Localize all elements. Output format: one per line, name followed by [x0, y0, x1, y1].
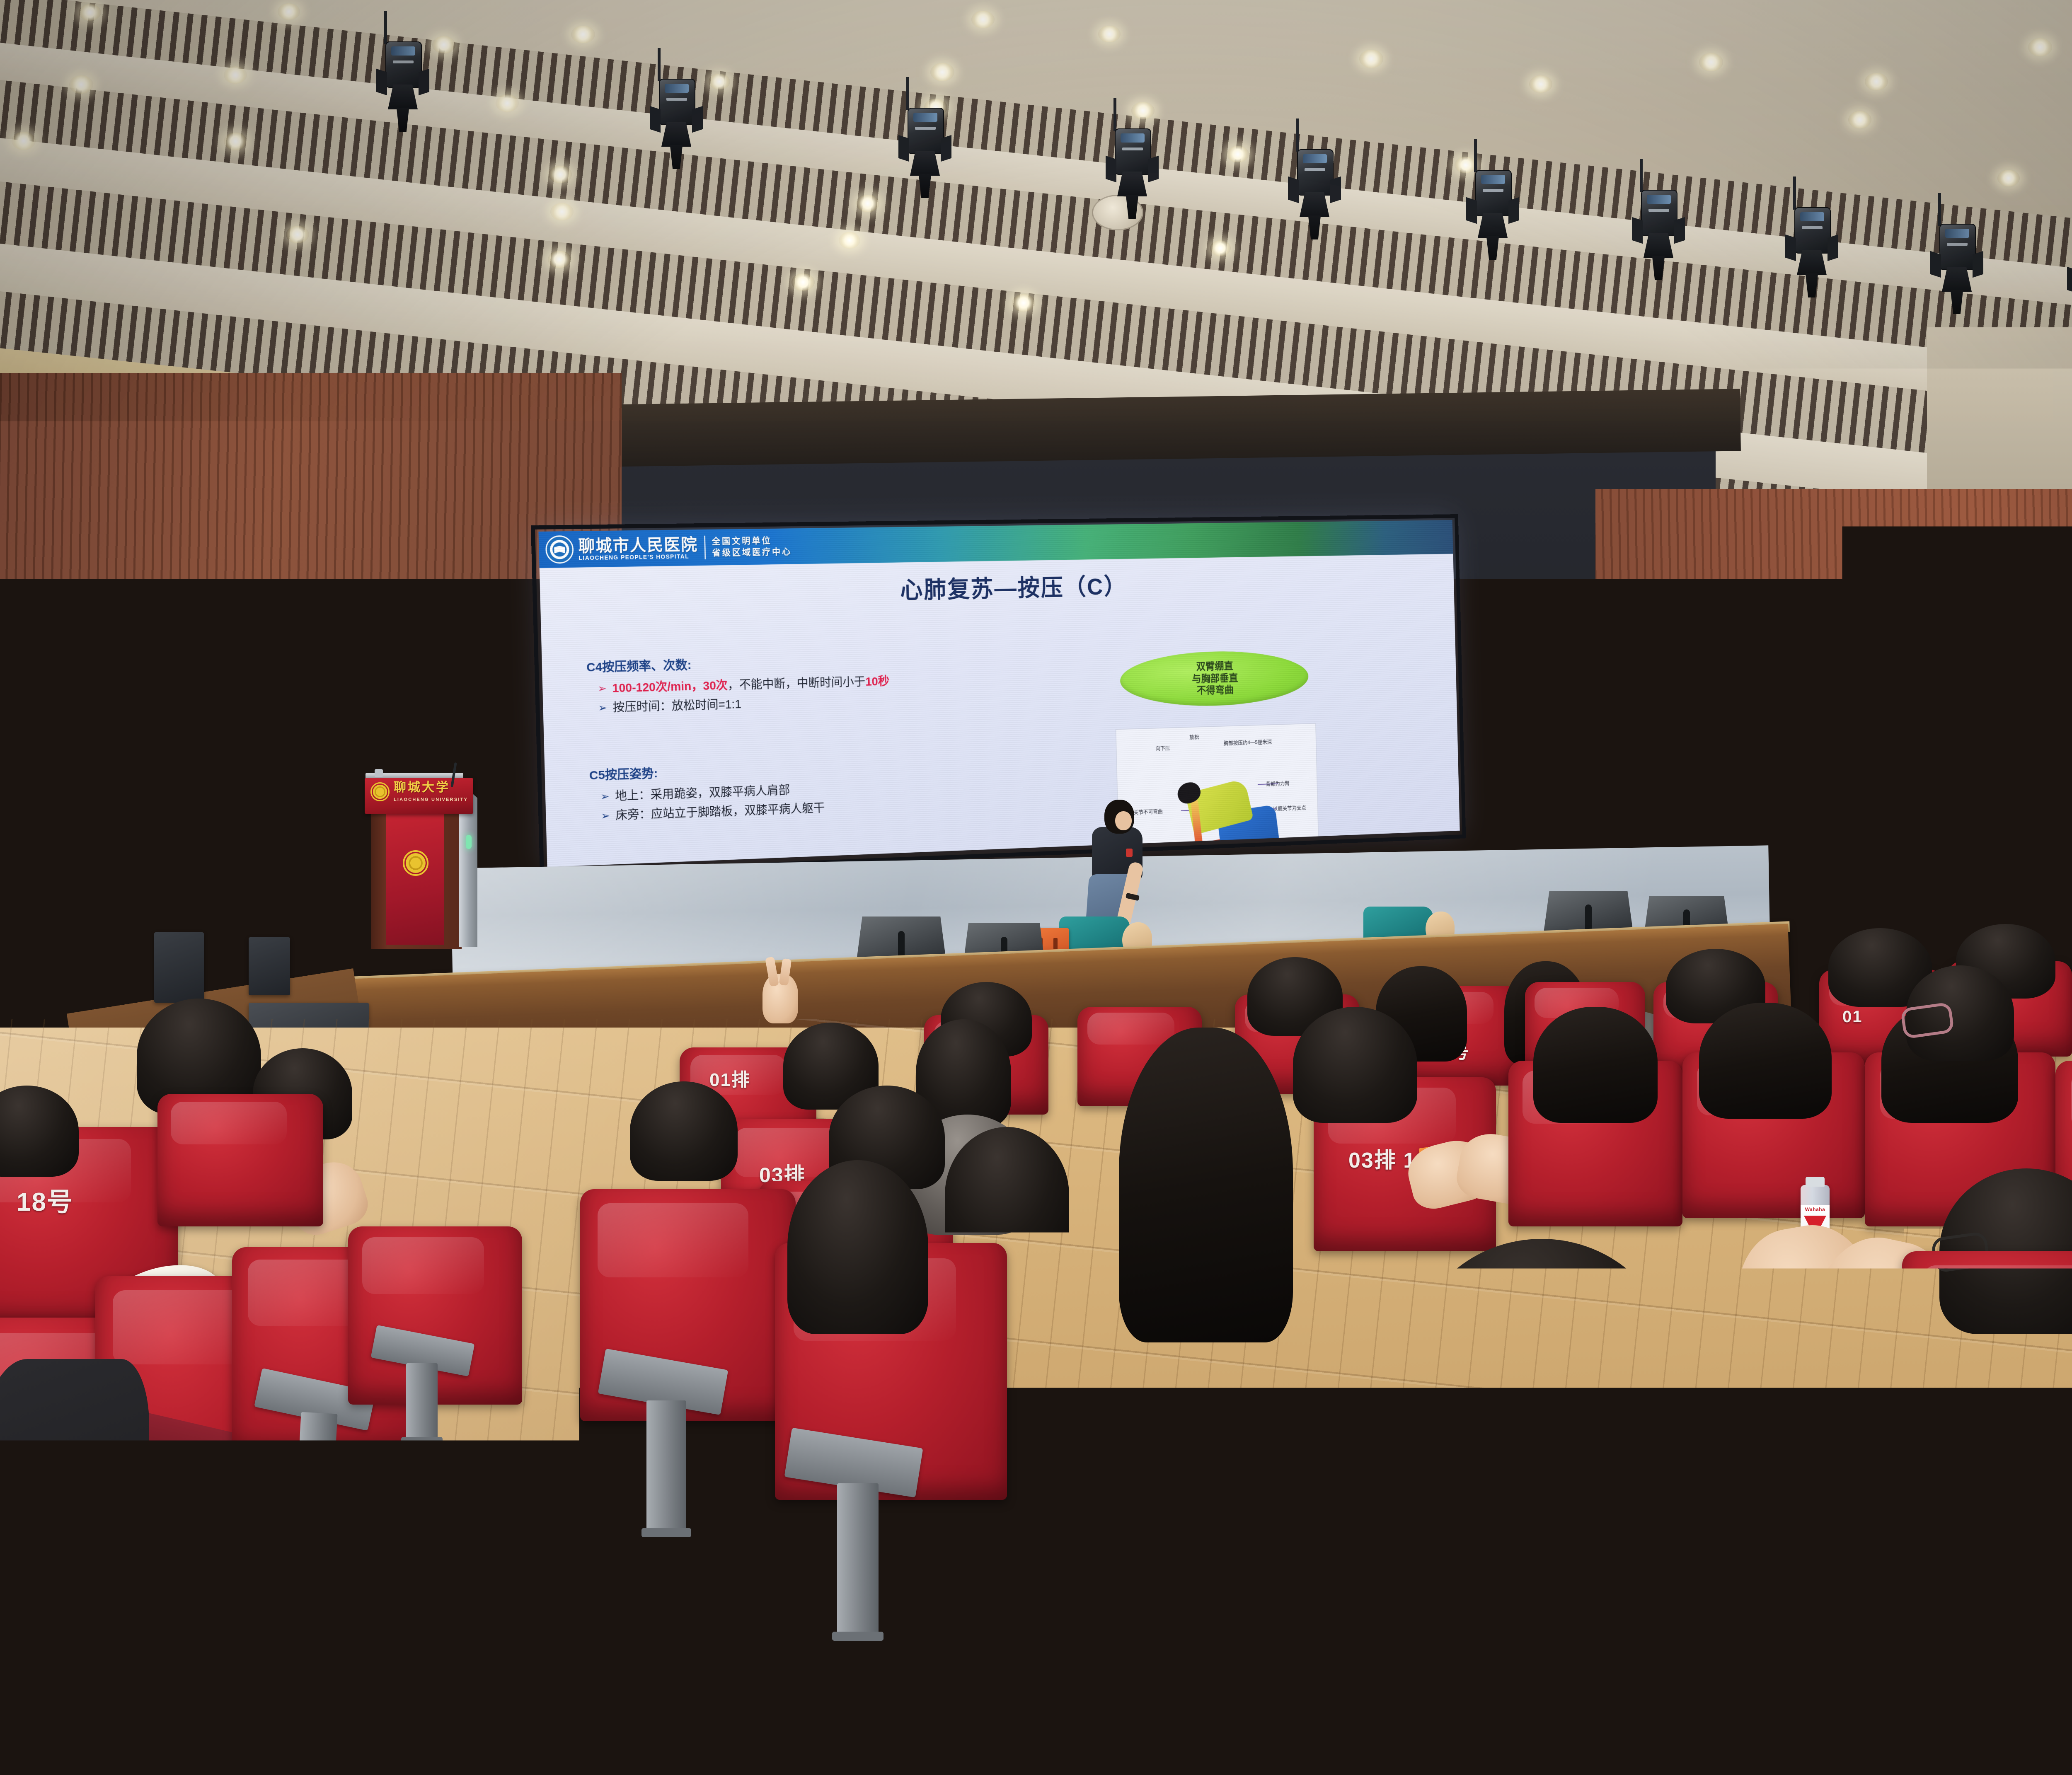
ceiling-downlight [224, 66, 247, 84]
diagram-label-hip: 以髋关节为支点 [1273, 803, 1306, 812]
seat-foot [641, 1528, 691, 1537]
ceiling-downlight [224, 133, 247, 150]
audience-member [1533, 1007, 1658, 1123]
person-hair [518, 999, 622, 1094]
ceiling-downlight [856, 195, 879, 212]
audience-member [945, 1127, 1069, 1264]
university-name-en: LIAOCHENG UNIVERSITY [394, 797, 468, 802]
ceiling-downlight [69, 75, 93, 94]
frequency-value: 100-120次/min，30次 [612, 679, 728, 695]
bullet-ground-text: 地上：采用跪姿，双膝平病人肩部 [615, 783, 790, 804]
audience-member [630, 1081, 738, 1181]
person-hair [630, 1081, 738, 1181]
door-handle[interactable] [156, 855, 162, 873]
person-hair [1119, 1028, 1293, 1342]
interrupt-limit: 10秒 [865, 675, 890, 689]
ceiling-downlight [278, 3, 300, 20]
bullet-arrow-icon: ➢ [598, 701, 607, 715]
ceiling-downlight [549, 166, 572, 183]
seat-label-row-1x: 排 1 [1743, 1414, 1809, 1467]
ceiling-downlight [1529, 75, 1552, 93]
ceiling-downlight [1227, 146, 1249, 162]
bullet-arrow-icon: ➢ [598, 681, 607, 696]
ceiling-downlight [839, 232, 860, 249]
hospital-subtitle-block: 全国文明单位 省级区域医疗中心 [712, 535, 792, 559]
person-hair [787, 1160, 928, 1334]
seat-leg [406, 1363, 438, 1446]
ceiling-downlight [1012, 294, 1035, 312]
lectern-podium: 聊城大学 LIAOCHENG UNIVERSITY [365, 762, 485, 953]
ceiling-downlight [571, 26, 595, 43]
header-divider [704, 536, 706, 559]
presenter-badge [1126, 849, 1133, 857]
hospital-name-en: LIAOCHENG PEOPLE'S HOSPITAL [579, 553, 698, 561]
ceiling-downlight [12, 132, 36, 150]
bullet-bedside-text: 床旁：应站立于脚踏板，双膝平病人躯干 [615, 801, 825, 824]
ceiling-downlight [1997, 170, 2020, 186]
seat-highlight [1689, 1327, 1892, 1422]
floor-speaker-left [154, 932, 204, 1003]
seat-far-right-front[interactable] [1902, 1251, 2072, 1483]
audience-member-hand-up [762, 957, 800, 1028]
callout-ellipse: 双臂绷直 与胸部垂直 不得弯曲 [1120, 649, 1309, 708]
hospital-subtitle-line1: 全国文明单位 [712, 535, 792, 547]
right-wall-upper-panel [1927, 327, 2072, 501]
floor-speaker-left-2 [249, 937, 290, 995]
bullet-ratio-text: 按压时间：放松时间=1:1 [612, 697, 741, 716]
ceiling-downlight [971, 11, 995, 28]
ceiling-downlight [930, 63, 954, 81]
bullet-arrow-icon: ➢ [600, 789, 610, 804]
ceiling-downlight [1699, 53, 1723, 71]
audience-member [787, 1160, 928, 1334]
hospital-subtitle-line2: 省级区域医疗中心 [712, 546, 792, 559]
callout-line2: 与胸部垂直 [1192, 672, 1238, 685]
audience-member [1293, 1007, 1417, 1123]
ceiling-downlight [709, 74, 730, 89]
audience-member [1699, 1003, 1832, 1119]
seat-highlight [1059, 1358, 1366, 1485]
university-emblem-icon [370, 782, 390, 801]
seat-leg [296, 1412, 338, 1517]
hospital-name-block: 聊城市人民医院 LIAOCHENG PEOPLE'S HOSPITAL [578, 536, 698, 561]
ceiling-downlight [1455, 157, 1477, 173]
frequency-rest: ，不能中断，中断时间小于 [727, 676, 865, 692]
ceiling-downlight [1359, 50, 1383, 68]
stool-slot [1053, 938, 1058, 949]
book-glyph [554, 546, 565, 553]
university-seal-icon [403, 850, 428, 876]
section-c5: C5按压姿势: ➢ 地上：采用跪姿，双膝平病人肩部 ➢ 床旁：应站立于脚踏板，双… [589, 749, 1108, 825]
audience-member-longhair [1119, 1028, 1293, 1342]
ceiling-downlight [792, 273, 815, 291]
person-hair [1293, 1007, 1417, 1123]
ceiling-downlight [548, 251, 571, 268]
ceiling-downlight [1210, 240, 1231, 256]
hospital-name-cn: 聊城市人民医院 [578, 536, 698, 555]
callout-line3: 不得弯曲 [1197, 684, 1234, 697]
slide-surface: 聊城市人民医院 LIAOCHENG PEOPLE'S HOSPITAL 全国文明… [538, 520, 1460, 867]
side-door-left[interactable] [103, 729, 168, 927]
shirt-collar [1496, 1554, 1620, 1599]
podium-nameplate: 聊城大学 LIAOCHENG UNIVERSITY [365, 778, 473, 814]
seat-leg [179, 1507, 227, 1634]
bullet-arrow-icon: ➢ [601, 809, 610, 824]
camera-module-icon [1159, 1700, 1194, 1734]
seat-foot [832, 1632, 884, 1641]
person-hair [1533, 1007, 1658, 1123]
bullet-frequency-text: 100-120次/min，30次，不能中断，中断时间小于10秒 [612, 674, 889, 696]
ceiling-downlight [286, 226, 309, 243]
audience-member-shoulder [0, 1359, 149, 1765]
presenter-face [1115, 811, 1132, 830]
slide-title: 心肺复苏—按压（C） [540, 562, 1454, 612]
ceiling-downlight [496, 94, 519, 112]
person-hair [0, 1086, 79, 1177]
diagram-label-relax: 放松 [1189, 733, 1199, 741]
seat-label-01: 01 [1842, 1008, 1863, 1026]
seat-foot [401, 1437, 443, 1446]
ceiling-downlight [1848, 111, 1871, 128]
podium-light [375, 769, 383, 777]
slide-body: C4按压频率、次数: ➢ 100-120次/min，30次，不能中断，中断时间小… [586, 645, 1109, 829]
person-hair [1699, 1003, 1832, 1119]
seat-leg [837, 1483, 879, 1641]
audience-member-glasses-2 [1906, 965, 2014, 1061]
seat-leg [646, 1400, 686, 1537]
seat-highlight [598, 1203, 748, 1277]
ceiling-downlight [1131, 102, 1155, 119]
seat-label-18: 18号 [17, 1181, 73, 1218]
audience-member [518, 999, 622, 1094]
diagram-label-pressdown: 向下压 [1155, 744, 1170, 752]
university-name-cn: 聊城大学 [394, 781, 450, 794]
seat-highlight [171, 1102, 287, 1144]
podium-status-led [466, 835, 472, 849]
ceiling-downlight [2028, 38, 2052, 56]
seat-highlight [362, 1237, 484, 1294]
callout-line1: 双臂绷直 [1196, 660, 1233, 673]
ceiling-downlight [550, 203, 574, 220]
diagram-label-depth: 胸部按压约4—5厘米深 [1224, 738, 1272, 747]
seat-left-mid[interactable] [157, 1094, 323, 1226]
hospital-emblem-icon [545, 535, 574, 564]
audience-member [0, 1086, 79, 1177]
person-torso [0, 1359, 149, 1765]
ceiling-downlight [432, 36, 455, 53]
seat-highlight [1923, 1265, 2072, 1340]
person-hair [945, 1127, 1069, 1264]
ceiling-downlight [1865, 73, 1888, 90]
ceiling-downlight [1098, 26, 1121, 42]
podium-front-skirt [386, 812, 444, 945]
led-presentation-screen: 聊城市人民医院 LIAOCHENG PEOPLE'S HOSPITAL 全国文明… [538, 520, 1460, 867]
ceiling-downlight [79, 4, 101, 21]
smartphone[interactable] [1150, 1683, 1316, 1767]
bottle-brand-text: Wahaha [1801, 1207, 1830, 1212]
auditorium-scene: 聊城市人民医院 LIAOCHENG PEOPLE'S HOSPITAL 全国文明… [0, 0, 2072, 1775]
bottle-cap [1806, 1177, 1825, 1187]
